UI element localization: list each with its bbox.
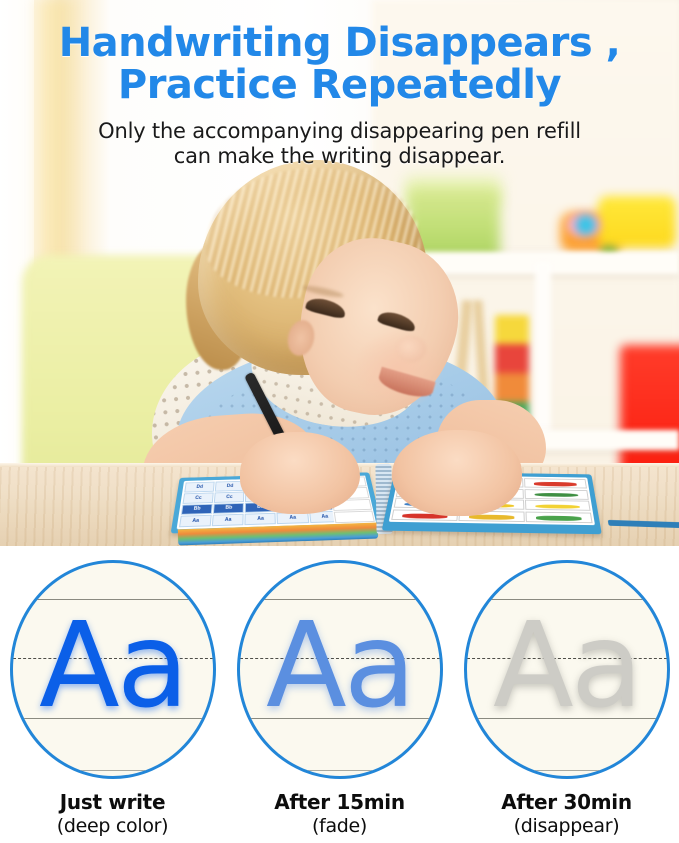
child-nose [396, 336, 426, 362]
letter-cell: Dd [184, 482, 215, 493]
header-block: Handwriting Disappears , Practice Repeat… [0, 0, 679, 169]
letter-cell: Cc [183, 492, 214, 503]
stage-caption-2: After 15min [233, 790, 446, 814]
stage-caption-3: After 30min [460, 790, 673, 814]
fade-comparison-section: Aa Just write (deep color) Aa After 15mi… [0, 546, 679, 843]
picture-card [525, 500, 590, 511]
child-hand-right [392, 430, 522, 516]
letter-cell: Bb [181, 503, 213, 515]
sample-circle-2: Aa [237, 560, 443, 779]
headline: Handwriting Disappears , Practice Repeat… [0, 0, 679, 106]
sample-circle-3: Aa [464, 560, 670, 779]
stage-note-3: (disappear) [460, 815, 673, 837]
stage-note-1: (deep color) [6, 815, 219, 837]
letter-cell: Cc [214, 491, 245, 502]
sample-letters-1: Aa [13, 563, 213, 776]
stage-just-write: Aa Just write (deep color) [6, 560, 219, 837]
subtitle: Only the accompanying disappearing pen r… [0, 119, 679, 169]
letter-cell: Bb [213, 502, 244, 514]
promo-image: Dd Dd Dd Dd Dd Dd Cc Cc Cc Cc Cc Cc Bb B… [0, 0, 679, 843]
headline-line-1: Handwriting Disappears , [59, 20, 621, 66]
headline-line-2: Practice Repeatedly [0, 64, 679, 106]
sample-letters-2: Aa [240, 563, 440, 776]
letter-cell: Aa [212, 514, 244, 526]
subtitle-line-2: can make the writing disappear. [0, 144, 679, 169]
practice-workbook: Dd Dd Dd Dd Dd Dd Cc Cc Cc Cc Cc Cc Bb B… [176, 462, 596, 546]
stage-after-30min: Aa After 30min (disappear) [460, 560, 673, 837]
subtitle-line-1: Only the accompanying disappearing pen r… [98, 119, 581, 143]
sample-letters-3: Aa [467, 563, 667, 776]
letter-cell: Aa [179, 515, 212, 527]
letter-cell: Aa [245, 513, 277, 525]
picture-card [524, 478, 587, 488]
picture-card [526, 511, 593, 523]
picture-card [525, 489, 589, 500]
stage-note-2: (fade) [233, 815, 446, 837]
stage-after-15min: Aa After 15min (fade) [233, 560, 446, 837]
stage-caption-1: Just write [6, 790, 219, 814]
sample-circle-1: Aa [10, 560, 216, 779]
child-hand-left [240, 432, 360, 514]
